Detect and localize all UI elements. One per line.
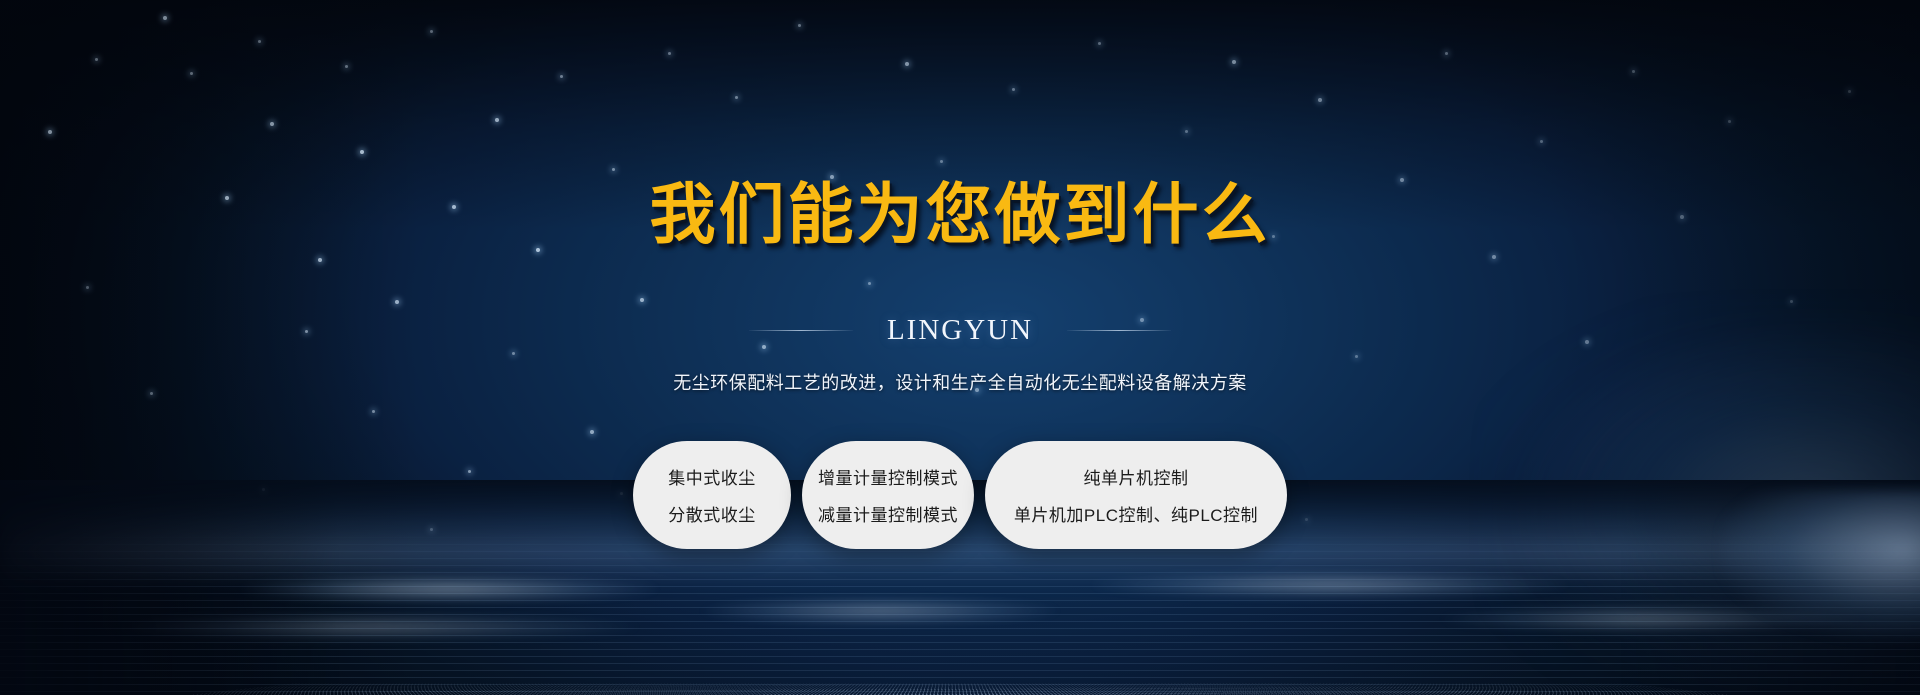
brand-divider-row: LINGYUN [749,314,1171,347]
feature-card[interactable]: 集中式收尘 分散式收尘 [633,441,791,549]
divider-line-left [749,330,853,331]
feature-card-line-1: 集中式收尘 [668,464,756,489]
banner-description: 无尘环保配料工艺的改进，设计和生产全自动化无尘配料设备解决方案 [673,369,1247,395]
feature-card[interactable]: 增量计量控制模式 减量计量控制模式 [802,441,974,549]
banner-headline: 我们能为您做到什么 [650,182,1271,248]
feature-card-line-2: 单片机加PLC控制、纯PLC控制 [1014,501,1258,526]
banner-content: 我们能为您做到什么 LINGYUN 无尘环保配料工艺的改进，设计和生产全自动化无… [0,0,1920,695]
feature-card-list: 集中式收尘 分散式收尘 增量计量控制模式 减量计量控制模式 纯单片机控制 单片机… [633,441,1287,549]
feature-card-line-1: 纯单片机控制 [1084,464,1189,489]
feature-card-line-1: 增量计量控制模式 [818,464,958,489]
feature-card-line-2: 分散式收尘 [668,501,756,526]
feature-card-line-2: 减量计量控制模式 [818,501,958,526]
brand-name: LINGYUN [887,314,1033,347]
hero-banner: 我们能为您做到什么 LINGYUN 无尘环保配料工艺的改进，设计和生产全自动化无… [0,0,1920,695]
divider-line-right [1067,330,1171,331]
feature-card[interactable]: 纯单片机控制 单片机加PLC控制、纯PLC控制 [985,441,1287,549]
